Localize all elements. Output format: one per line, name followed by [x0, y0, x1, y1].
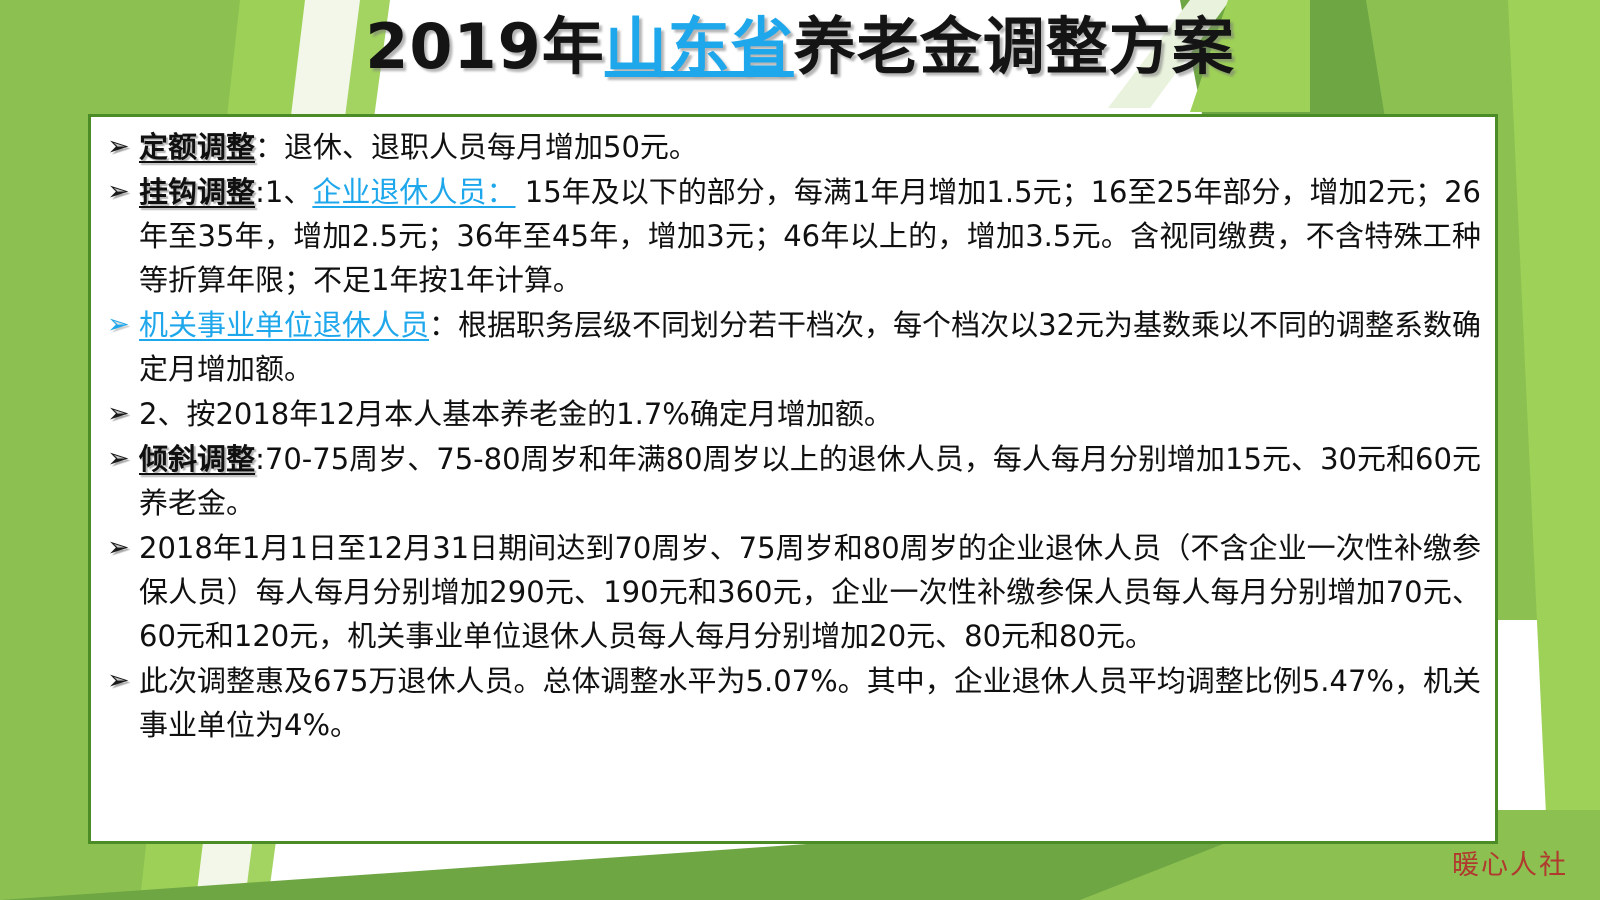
bullet-arrow-icon: ➢	[107, 170, 130, 214]
list-item: ➢机关事业单位退休人员：根据职务层级不同划分若干档次，每个档次以32元为基数乘以…	[101, 303, 1481, 391]
title-suffix: 养老金调整方案	[794, 10, 1235, 83]
title-prefix: 2019年	[365, 10, 605, 83]
bullet-arrow-icon: ➢	[107, 125, 130, 169]
slide-canvas: 2019年山东省养老金调整方案 ➢定额调整：退休、退职人员每月增加50元。 ➢挂…	[0, 0, 1600, 900]
bullet-text: 2、按2018年12月本人基本养老金的1.7%确定月增加额。	[139, 397, 893, 431]
bullet-lead-label: 倾斜调整	[139, 442, 255, 476]
title-highlight-province: 山东省	[605, 10, 794, 83]
bullet-lead-label: 定额调整	[139, 130, 255, 164]
list-item: ➢2018年1月1日至12月31日期间达到70周岁、75周岁和80周岁的企业退休…	[101, 526, 1481, 658]
bullet-arrow-icon: ➢	[107, 437, 130, 481]
bullet-arrow-icon: ➢	[107, 303, 130, 347]
bullet-lead-label: 挂钩调整	[139, 175, 255, 209]
list-item: ➢定额调整：退休、退职人员每月增加50元。	[101, 125, 1481, 169]
bullet-arrow-icon: ➢	[107, 392, 130, 436]
bullet-link-enterprise-retiree[interactable]: 企业退休人员：	[312, 175, 515, 209]
list-item: ➢倾斜调整:70-75周岁、75-80周岁和年满80周岁以上的退休人员，每人每月…	[101, 437, 1481, 525]
bullet-text: 此次调整惠及675万退休人员。总体调整水平为5.07%。其中，企业退休人员平均调…	[139, 664, 1481, 742]
bullet-list: ➢定额调整：退休、退职人员每月增加50元。 ➢挂钩调整:1、企业退休人员： 15…	[101, 125, 1481, 747]
list-item: ➢挂钩调整:1、企业退休人员： 15年及以下的部分，每满1年月增加1.5元；16…	[101, 170, 1481, 302]
page-title: 2019年山东省养老金调整方案	[365, 14, 1235, 79]
bullet-text: ：退休、退职人员每月增加50元。	[255, 130, 698, 164]
bullet-arrow-icon: ➢	[107, 659, 130, 703]
bullet-text: :70-75周岁、75-80周岁和年满80周岁以上的退休人员，每人每月分别增加1…	[139, 442, 1481, 520]
bullet-arrow-icon: ➢	[107, 526, 130, 570]
bullet-text: 2018年1月1日至12月31日期间达到70周岁、75周岁和80周岁的企业退休人…	[139, 531, 1481, 653]
watermark-label: 暖心人社	[1452, 843, 1568, 882]
bullet-prelink-text: :1、	[255, 175, 312, 209]
list-item: ➢2、按2018年12月本人基本养老金的1.7%确定月增加额。	[101, 392, 1481, 436]
bullet-link-public-institution-retiree[interactable]: 机关事业单位退休人员	[139, 308, 429, 342]
slide-title: 2019年山东省养老金调整方案	[0, 14, 1600, 79]
list-item: ➢此次调整惠及675万退休人员。总体调整水平为5.07%。其中，企业退休人员平均…	[101, 659, 1481, 747]
content-frame: ➢定额调整：退休、退职人员每月增加50元。 ➢挂钩调整:1、企业退休人员： 15…	[88, 114, 1498, 844]
